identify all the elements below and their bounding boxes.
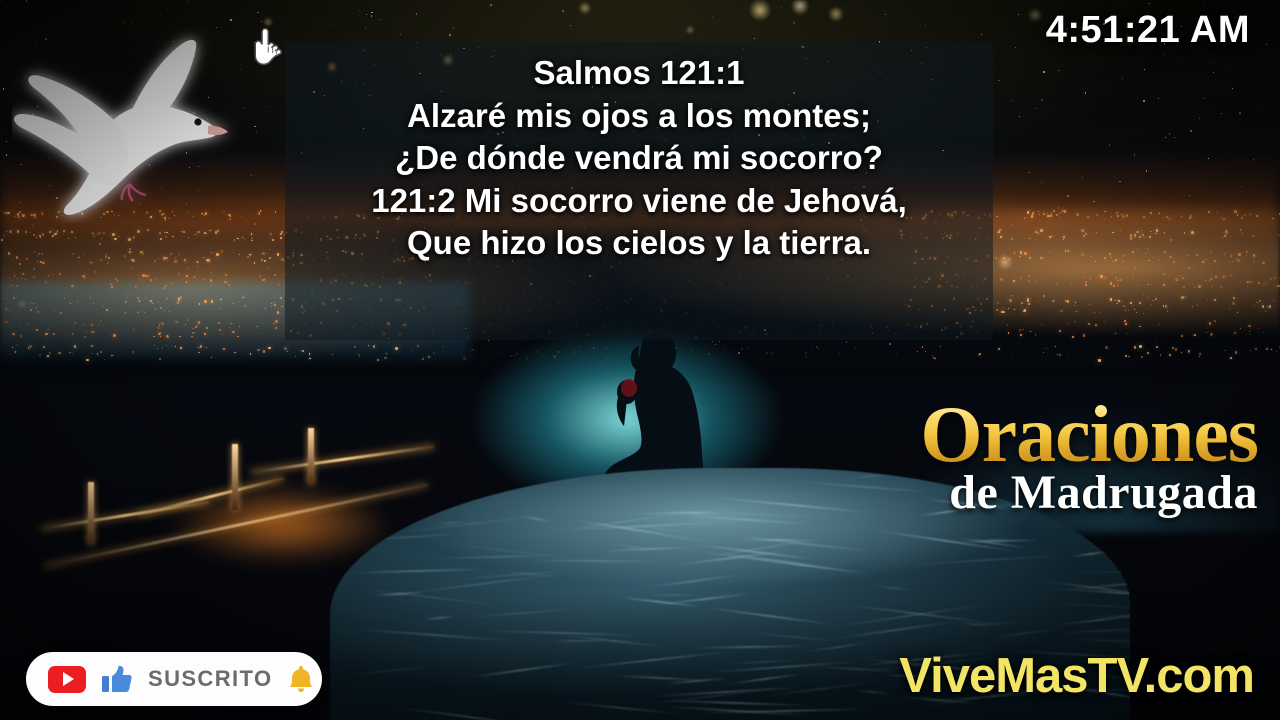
verse-reference: Salmos 121:1 [534, 54, 745, 93]
bell-icon[interactable] [288, 664, 314, 694]
subscribe-button[interactable]: SUSCRITO [26, 652, 322, 706]
website-url: ViveMasTV.com [899, 648, 1254, 704]
verse-line: Alzaré mis ojos a los montes; [407, 97, 871, 136]
verse-line: 121:2 Mi socorro viene de Jehová, [371, 182, 907, 221]
video-frame: 4:51:21 AM Salmos 121:1 Alzaré mis ojos … [0, 0, 1280, 720]
brand-title: Oraciones [920, 398, 1258, 473]
channel-branding: Oraciones de Madrugada [920, 398, 1258, 517]
hand-cursor [250, 28, 288, 68]
verse-line: ¿De dónde vendrá mi socorro? [395, 139, 883, 178]
youtube-play-icon [48, 666, 86, 693]
subscribe-label: SUSCRITO [148, 666, 272, 692]
verse-overlay-panel: Salmos 121:1 Alzaré mis ojos a los monte… [285, 42, 993, 340]
thumbs-up-icon[interactable] [102, 664, 132, 694]
clock-display: 4:51:21 AM [1046, 9, 1250, 52]
verse-line: Que hizo los cielos y la tierra. [407, 224, 871, 263]
dove-icon [12, 18, 247, 223]
